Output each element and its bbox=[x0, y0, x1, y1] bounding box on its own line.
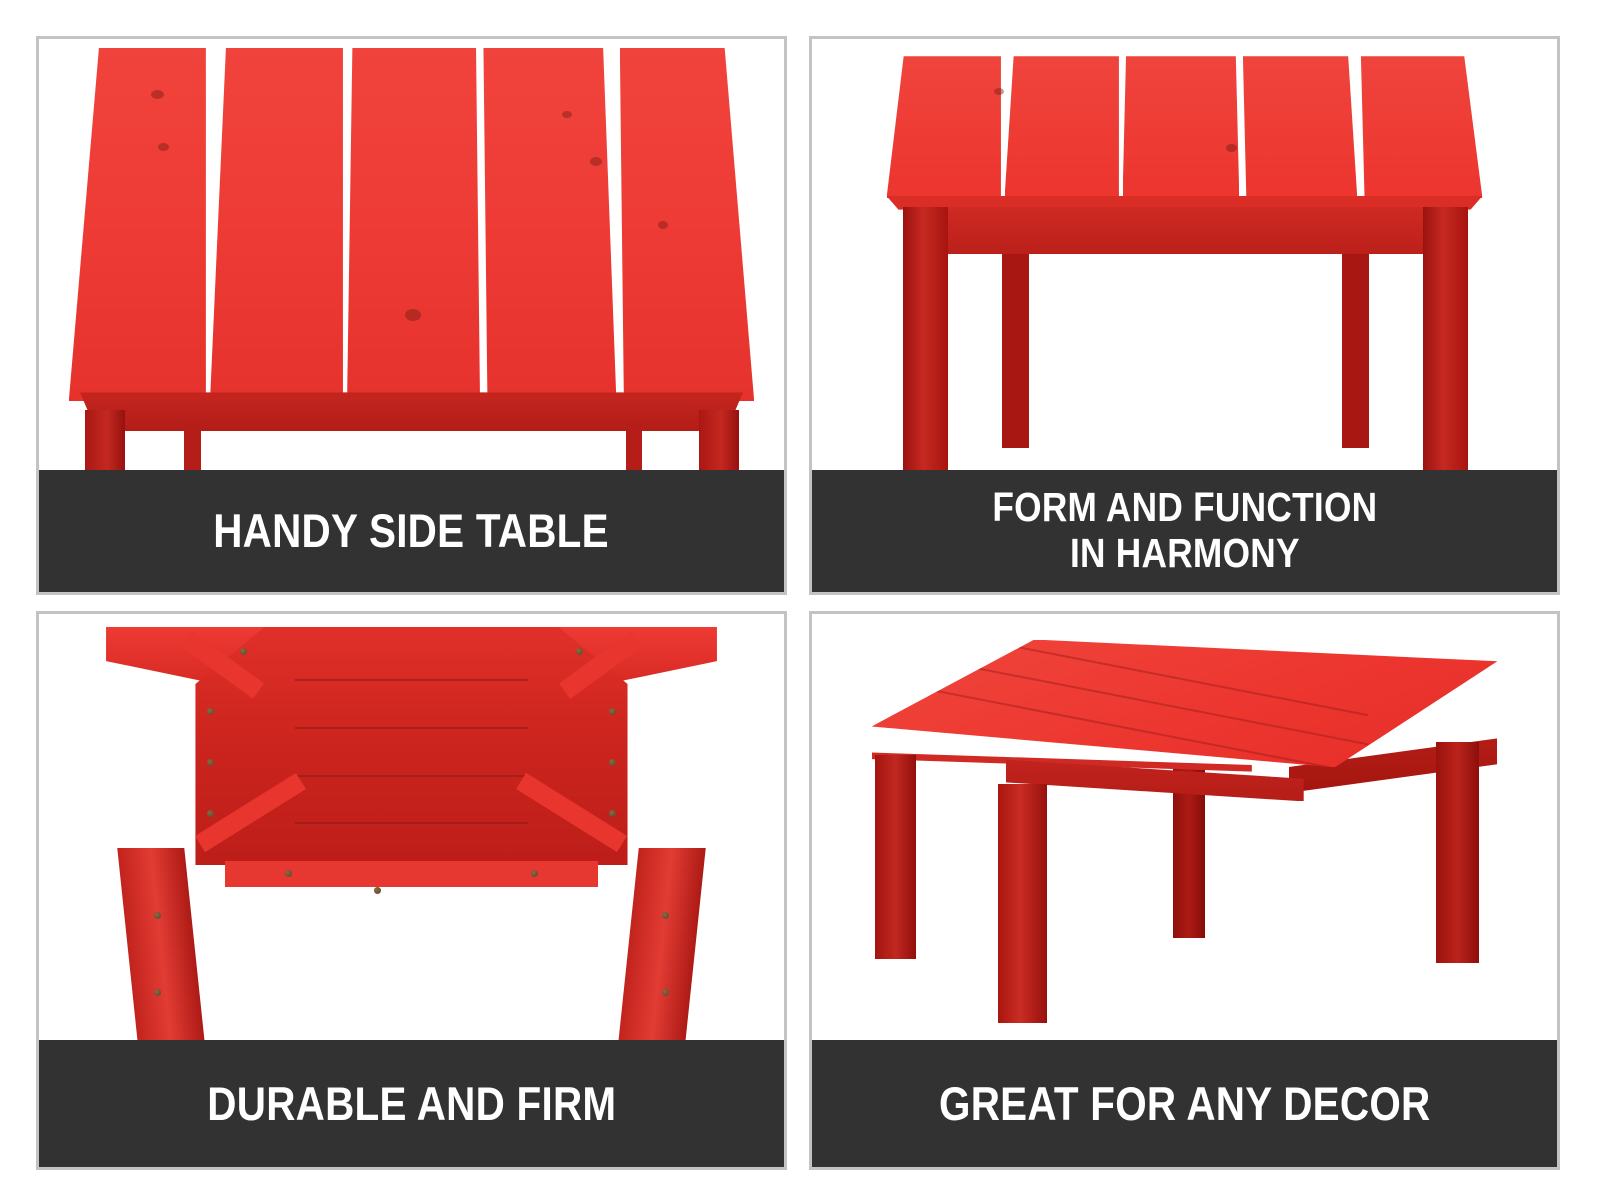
screw bbox=[531, 870, 538, 877]
bottom-rail bbox=[225, 861, 598, 887]
table-apron bbox=[903, 207, 1466, 254]
wood-knot bbox=[405, 309, 421, 321]
table-apron bbox=[80, 392, 743, 431]
plank-5 bbox=[620, 48, 754, 401]
plank-seam bbox=[295, 679, 528, 681]
caption-text-2: FORM AND FUNCTION IN HARMONY bbox=[992, 485, 1377, 577]
table-leg-front-left bbox=[85, 410, 125, 470]
feature-panel-3[interactable]: DURABLE AND FIRM bbox=[36, 611, 787, 1170]
table-leg-front-left bbox=[903, 207, 948, 470]
screw bbox=[207, 708, 214, 715]
plank-2 bbox=[1005, 56, 1119, 198]
table-leg-front bbox=[998, 784, 1046, 1023]
table-leg-left bbox=[118, 848, 207, 1040]
caption-band-2: FORM AND FUNCTION IN HARMONY bbox=[812, 470, 1557, 592]
tabletop-planks bbox=[872, 640, 1498, 768]
plank-seam bbox=[295, 727, 528, 729]
wood-knot bbox=[158, 143, 169, 151]
screw bbox=[207, 759, 214, 766]
plank-2 bbox=[210, 48, 343, 401]
screw bbox=[374, 887, 381, 894]
table-leg-right bbox=[1436, 742, 1479, 964]
table-leg-right bbox=[617, 848, 706, 1040]
feature-panel-4[interactable]: GREAT FOR ANY DECOR bbox=[809, 611, 1560, 1170]
screw bbox=[285, 870, 292, 877]
table-leg-back-right bbox=[626, 423, 642, 470]
feature-image-grid: HANDY SIDE TABLE bbox=[0, 0, 1600, 1200]
caption-band-3: DURABLE AND FIRM bbox=[39, 1040, 784, 1167]
plank-4 bbox=[1243, 56, 1357, 198]
caption-band-1: HANDY SIDE TABLE bbox=[39, 470, 784, 592]
plank-1 bbox=[69, 48, 206, 401]
table-leg-back-right bbox=[1342, 246, 1369, 449]
plank-seam bbox=[913, 626, 1368, 716]
caption-text-4: GREAT FOR ANY DECOR bbox=[939, 1080, 1430, 1128]
screw bbox=[662, 912, 669, 919]
plank-3 bbox=[347, 48, 480, 401]
feature-panel-2[interactable]: FORM AND FUNCTION IN HARMONY bbox=[809, 36, 1560, 595]
table-leg-back-left bbox=[184, 423, 200, 470]
table-illustration-top-front bbox=[39, 39, 784, 470]
caption-text-1: HANDY SIDE TABLE bbox=[214, 507, 610, 555]
wood-knot bbox=[658, 221, 668, 229]
table-illustration-underside bbox=[39, 614, 784, 1040]
wood-knot bbox=[151, 90, 164, 99]
table-leg-front-right bbox=[699, 410, 739, 470]
plank-3 bbox=[1123, 56, 1240, 198]
plank-1 bbox=[887, 56, 1001, 198]
table-leg-front-right bbox=[1423, 207, 1468, 470]
product-image-1 bbox=[39, 39, 784, 470]
plank-seam bbox=[901, 653, 1368, 746]
plank-5 bbox=[1361, 56, 1483, 198]
screw bbox=[662, 989, 669, 996]
screw bbox=[207, 810, 214, 817]
product-image-2 bbox=[812, 39, 1557, 470]
caption-band-4: GREAT FOR ANY DECOR bbox=[812, 1040, 1557, 1167]
underside-frame bbox=[195, 627, 627, 866]
product-image-3 bbox=[39, 614, 784, 1040]
feature-panel-1[interactable]: HANDY SIDE TABLE bbox=[36, 36, 787, 595]
plank-seam bbox=[295, 775, 528, 777]
wood-knot bbox=[590, 157, 602, 166]
table-illustration-angled bbox=[812, 614, 1557, 1040]
product-image-4 bbox=[812, 614, 1557, 1040]
plank-seam bbox=[295, 822, 528, 824]
wood-knot bbox=[994, 88, 1004, 95]
table-illustration-elevation bbox=[812, 39, 1557, 470]
caption-text-3: DURABLE AND FIRM bbox=[207, 1080, 616, 1128]
table-leg-left bbox=[875, 755, 915, 959]
screw bbox=[576, 648, 583, 655]
tabletop-planks bbox=[69, 48, 754, 401]
tabletop-planks bbox=[887, 56, 1483, 198]
table-leg-back-left bbox=[1002, 246, 1029, 449]
plank-4 bbox=[483, 48, 616, 401]
